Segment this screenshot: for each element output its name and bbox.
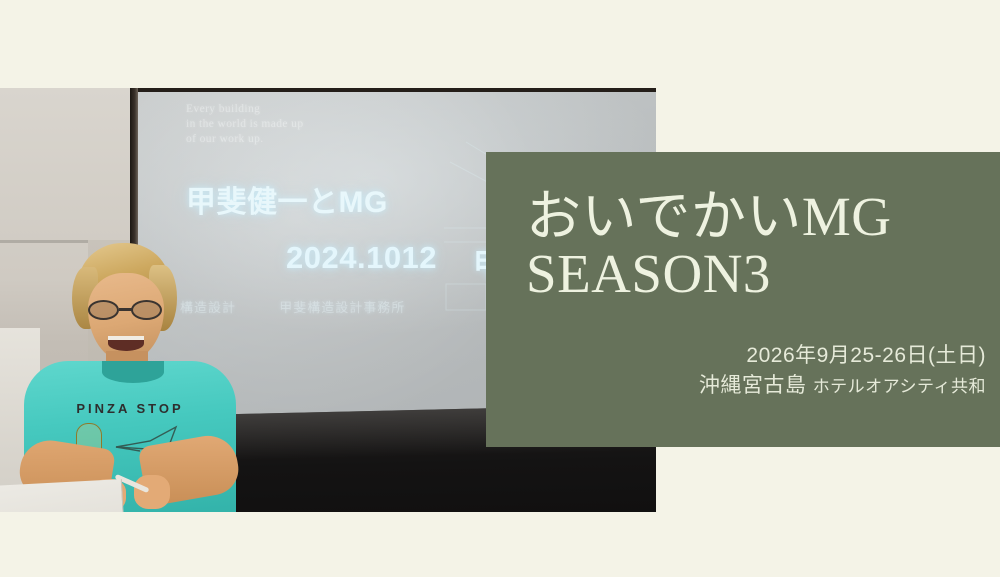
glasses-bridge	[119, 308, 132, 311]
slide-footer-company: 甲斐構造設計事務所	[279, 300, 405, 315]
glasses-lens-left	[88, 300, 119, 320]
slide-date: 2024.1012	[286, 240, 437, 276]
right-hand	[134, 475, 170, 509]
slide-title: 甲斐健一とMG	[186, 177, 388, 221]
event-details: 2026年9月25-26日(土日) 沖縄宮古島 ホテルオアシティ共和	[699, 341, 986, 402]
laptop: VAIO	[0, 479, 126, 512]
event-headline: おいでかいMG SEASON3	[526, 188, 891, 302]
title-panel: おいでかいMG SEASON3 2026年9月25-26日(土日) 沖縄宮古島 …	[486, 152, 1000, 447]
event-date: 2026年9月25-26日(土日)	[699, 341, 986, 371]
seated-person: PINZA STOP	[18, 243, 248, 512]
event-venue: 沖縄宮古島 ホテルオアシティ共和	[699, 371, 986, 402]
glasses-icon	[86, 300, 166, 320]
shirt-slogan: PINZA STOP	[24, 401, 236, 416]
venue-region: 沖縄宮古島	[699, 374, 807, 397]
venue-name: ホテルオアシティ共和	[813, 377, 986, 396]
slide-english-tagline: Every building in the world is made up o…	[186, 102, 303, 147]
glasses-lens-right	[131, 300, 162, 320]
shirt-collar	[102, 361, 164, 383]
smiling-mouth	[108, 336, 144, 351]
event-banner: Every building in the world is made up o…	[0, 0, 1000, 577]
